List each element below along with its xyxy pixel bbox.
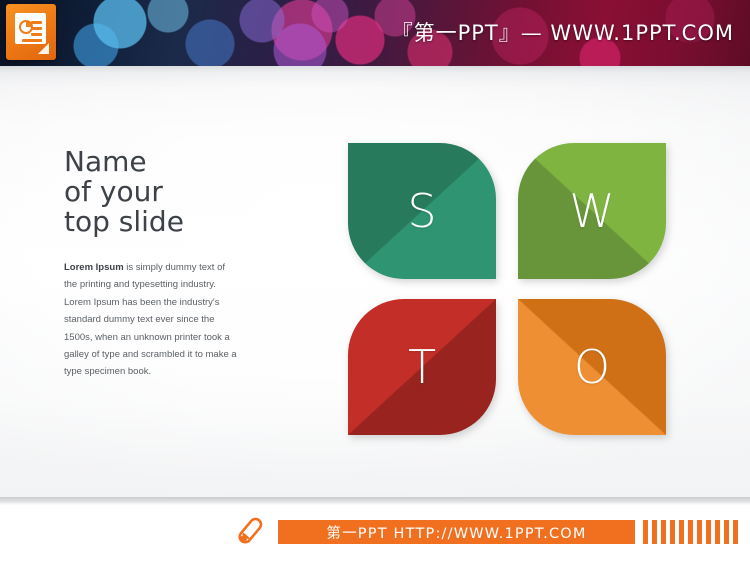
footer-divider: [0, 497, 750, 505]
footer-stripes: [643, 520, 750, 544]
footer-stripe: [652, 520, 657, 544]
body-paragraph: Lorem Ipsum is simply dummy text of the …: [64, 259, 239, 381]
swot-tile-strengths[interactable]: S: [348, 143, 496, 279]
swot-tile-weaknesses[interactable]: W: [518, 143, 666, 279]
text-column: Name of your top slide Lorem Ipsum is si…: [64, 147, 239, 381]
footer-stripe: [733, 520, 738, 544]
footer-stripe: [670, 520, 675, 544]
header-banner: 『第一PPT』— WWW.1PPT.COM: [0, 0, 750, 66]
footer-stripe: [724, 520, 729, 544]
swot-tile-opportunities[interactable]: O: [518, 299, 666, 435]
footer-url-bar: 第一PPT HTTP://WWW.1PPT.COM: [278, 520, 635, 544]
logo-text-line: [22, 39, 42, 42]
logo-text-line: [31, 33, 42, 36]
tile-letter: O: [518, 299, 666, 435]
footer-stripe: [715, 520, 720, 544]
footer-stripe: [679, 520, 684, 544]
logo-document-sheet: [15, 13, 46, 44]
footer-banner: 第一PPT HTTP://WWW.1PPT.COM: [0, 497, 750, 563]
page-title: Name of your top slide: [64, 147, 239, 237]
footer-stripe: [706, 520, 711, 544]
tile-letter: T: [348, 299, 496, 435]
tile-letter: W: [518, 143, 666, 279]
footer-stripe: [643, 520, 648, 544]
slide-body: Name of your top slide Lorem Ipsum is si…: [0, 66, 750, 497]
swot-tile-threats[interactable]: T: [348, 299, 496, 435]
logo-page-fold: [38, 43, 49, 54]
swot-diagram: S W T O: [348, 143, 652, 435]
logo-text-line: [31, 27, 42, 30]
logo-text-line: [31, 21, 42, 24]
body-paragraph-rest: is simply dummy text of the printing and…: [64, 262, 237, 377]
footer-content: 第一PPT HTTP://WWW.1PPT.COM: [0, 511, 750, 551]
header-title: 『第一PPT』— WWW.1PPT.COM: [392, 17, 734, 47]
footer-stripe: [688, 520, 693, 544]
footer-stripe: [697, 520, 702, 544]
tile-letter: S: [348, 143, 496, 279]
pen-icon: [232, 513, 268, 549]
slide-canvas: 『第一PPT』— WWW.1PPT.COM Name of your top s…: [0, 0, 750, 563]
footer-stripe: [661, 520, 666, 544]
powerpoint-document-icon: [6, 4, 56, 60]
body-paragraph-lead: Lorem Ipsum: [64, 262, 124, 273]
